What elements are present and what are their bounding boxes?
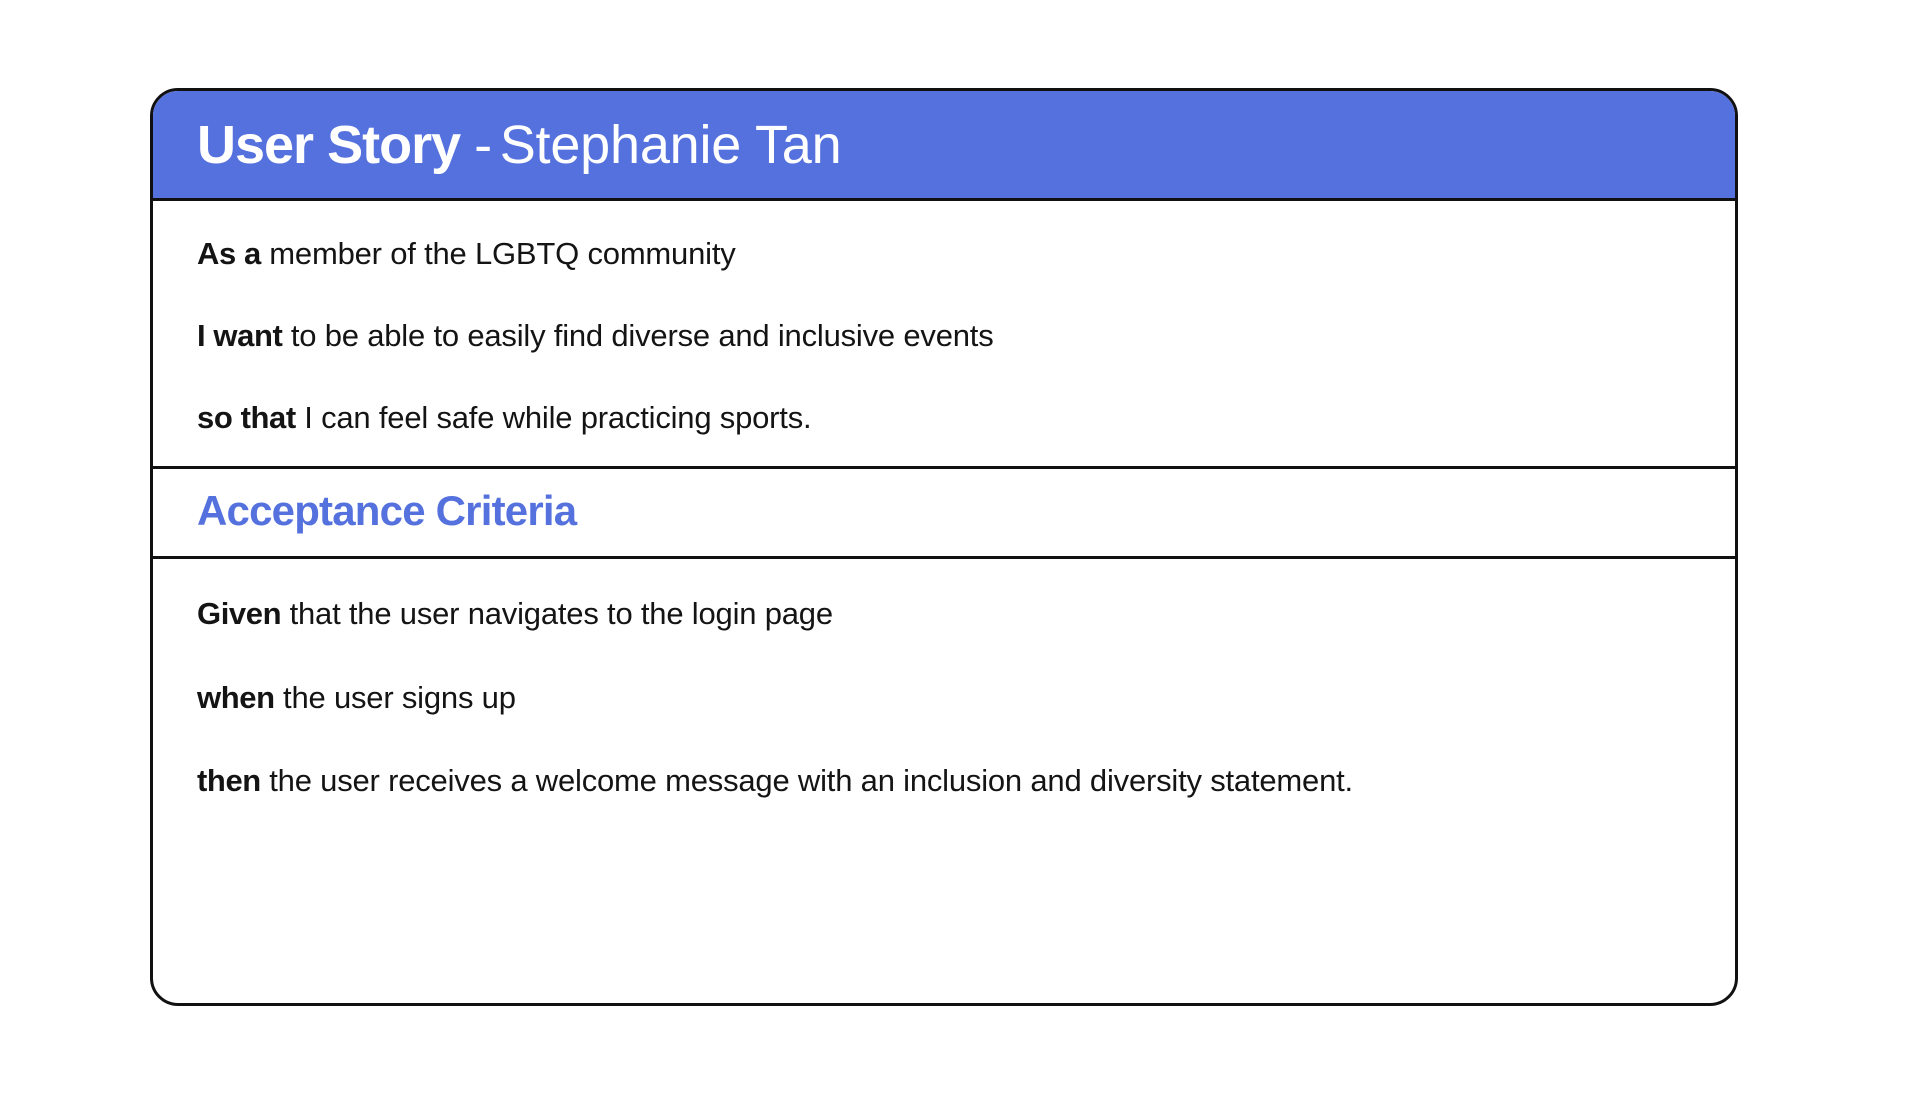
criteria-keyword-then: then bbox=[197, 763, 261, 798]
page-canvas: User Story - Stephanie Tan As a member o… bbox=[0, 0, 1920, 1112]
criteria-keyword-when: when bbox=[197, 680, 275, 715]
user-story-card: User Story - Stephanie Tan As a member o… bbox=[150, 88, 1738, 1006]
story-text-i-want: to be able to easily find diverse and in… bbox=[282, 318, 993, 353]
card-title: User Story bbox=[197, 118, 460, 172]
criteria-text-when: the user signs up bbox=[275, 680, 516, 715]
card-title-separator: - bbox=[460, 118, 500, 172]
criteria-line-when: when the user signs up bbox=[197, 679, 1691, 717]
story-text-so-that: I can feel safe while practicing sports. bbox=[296, 400, 812, 435]
criteria-keyword-given: Given bbox=[197, 596, 281, 631]
story-line-as-a: As a member of the LGBTQ community bbox=[197, 235, 1691, 273]
story-keyword-i-want: I want bbox=[197, 318, 282, 353]
card-persona-name: Stephanie Tan bbox=[500, 118, 842, 172]
story-keyword-so-that: so that bbox=[197, 400, 296, 435]
criteria-text-then: the user receives a welcome message with… bbox=[261, 763, 1353, 798]
story-line-i-want: I want to be able to easily find diverse… bbox=[197, 317, 1691, 355]
story-line-so-that: so that I can feel safe while practicing… bbox=[197, 399, 1691, 437]
story-keyword-as-a: As a bbox=[197, 236, 261, 271]
card-header: User Story - Stephanie Tan bbox=[153, 91, 1735, 201]
criteria-text-given: that the user navigates to the login pag… bbox=[281, 596, 833, 631]
user-story-body: As a member of the LGBTQ community I wan… bbox=[153, 201, 1735, 469]
story-text-as-a: member of the LGBTQ community bbox=[261, 236, 736, 271]
card-header-text: User Story - Stephanie Tan bbox=[197, 118, 841, 172]
acceptance-criteria-title: Acceptance Criteria bbox=[197, 487, 1691, 535]
acceptance-criteria-header: Acceptance Criteria bbox=[153, 469, 1735, 558]
acceptance-criteria-body: Given that the user navigates to the log… bbox=[153, 559, 1735, 1003]
criteria-line-then: then the user receives a welcome message… bbox=[197, 762, 1691, 800]
criteria-line-given: Given that the user navigates to the log… bbox=[197, 595, 1691, 633]
